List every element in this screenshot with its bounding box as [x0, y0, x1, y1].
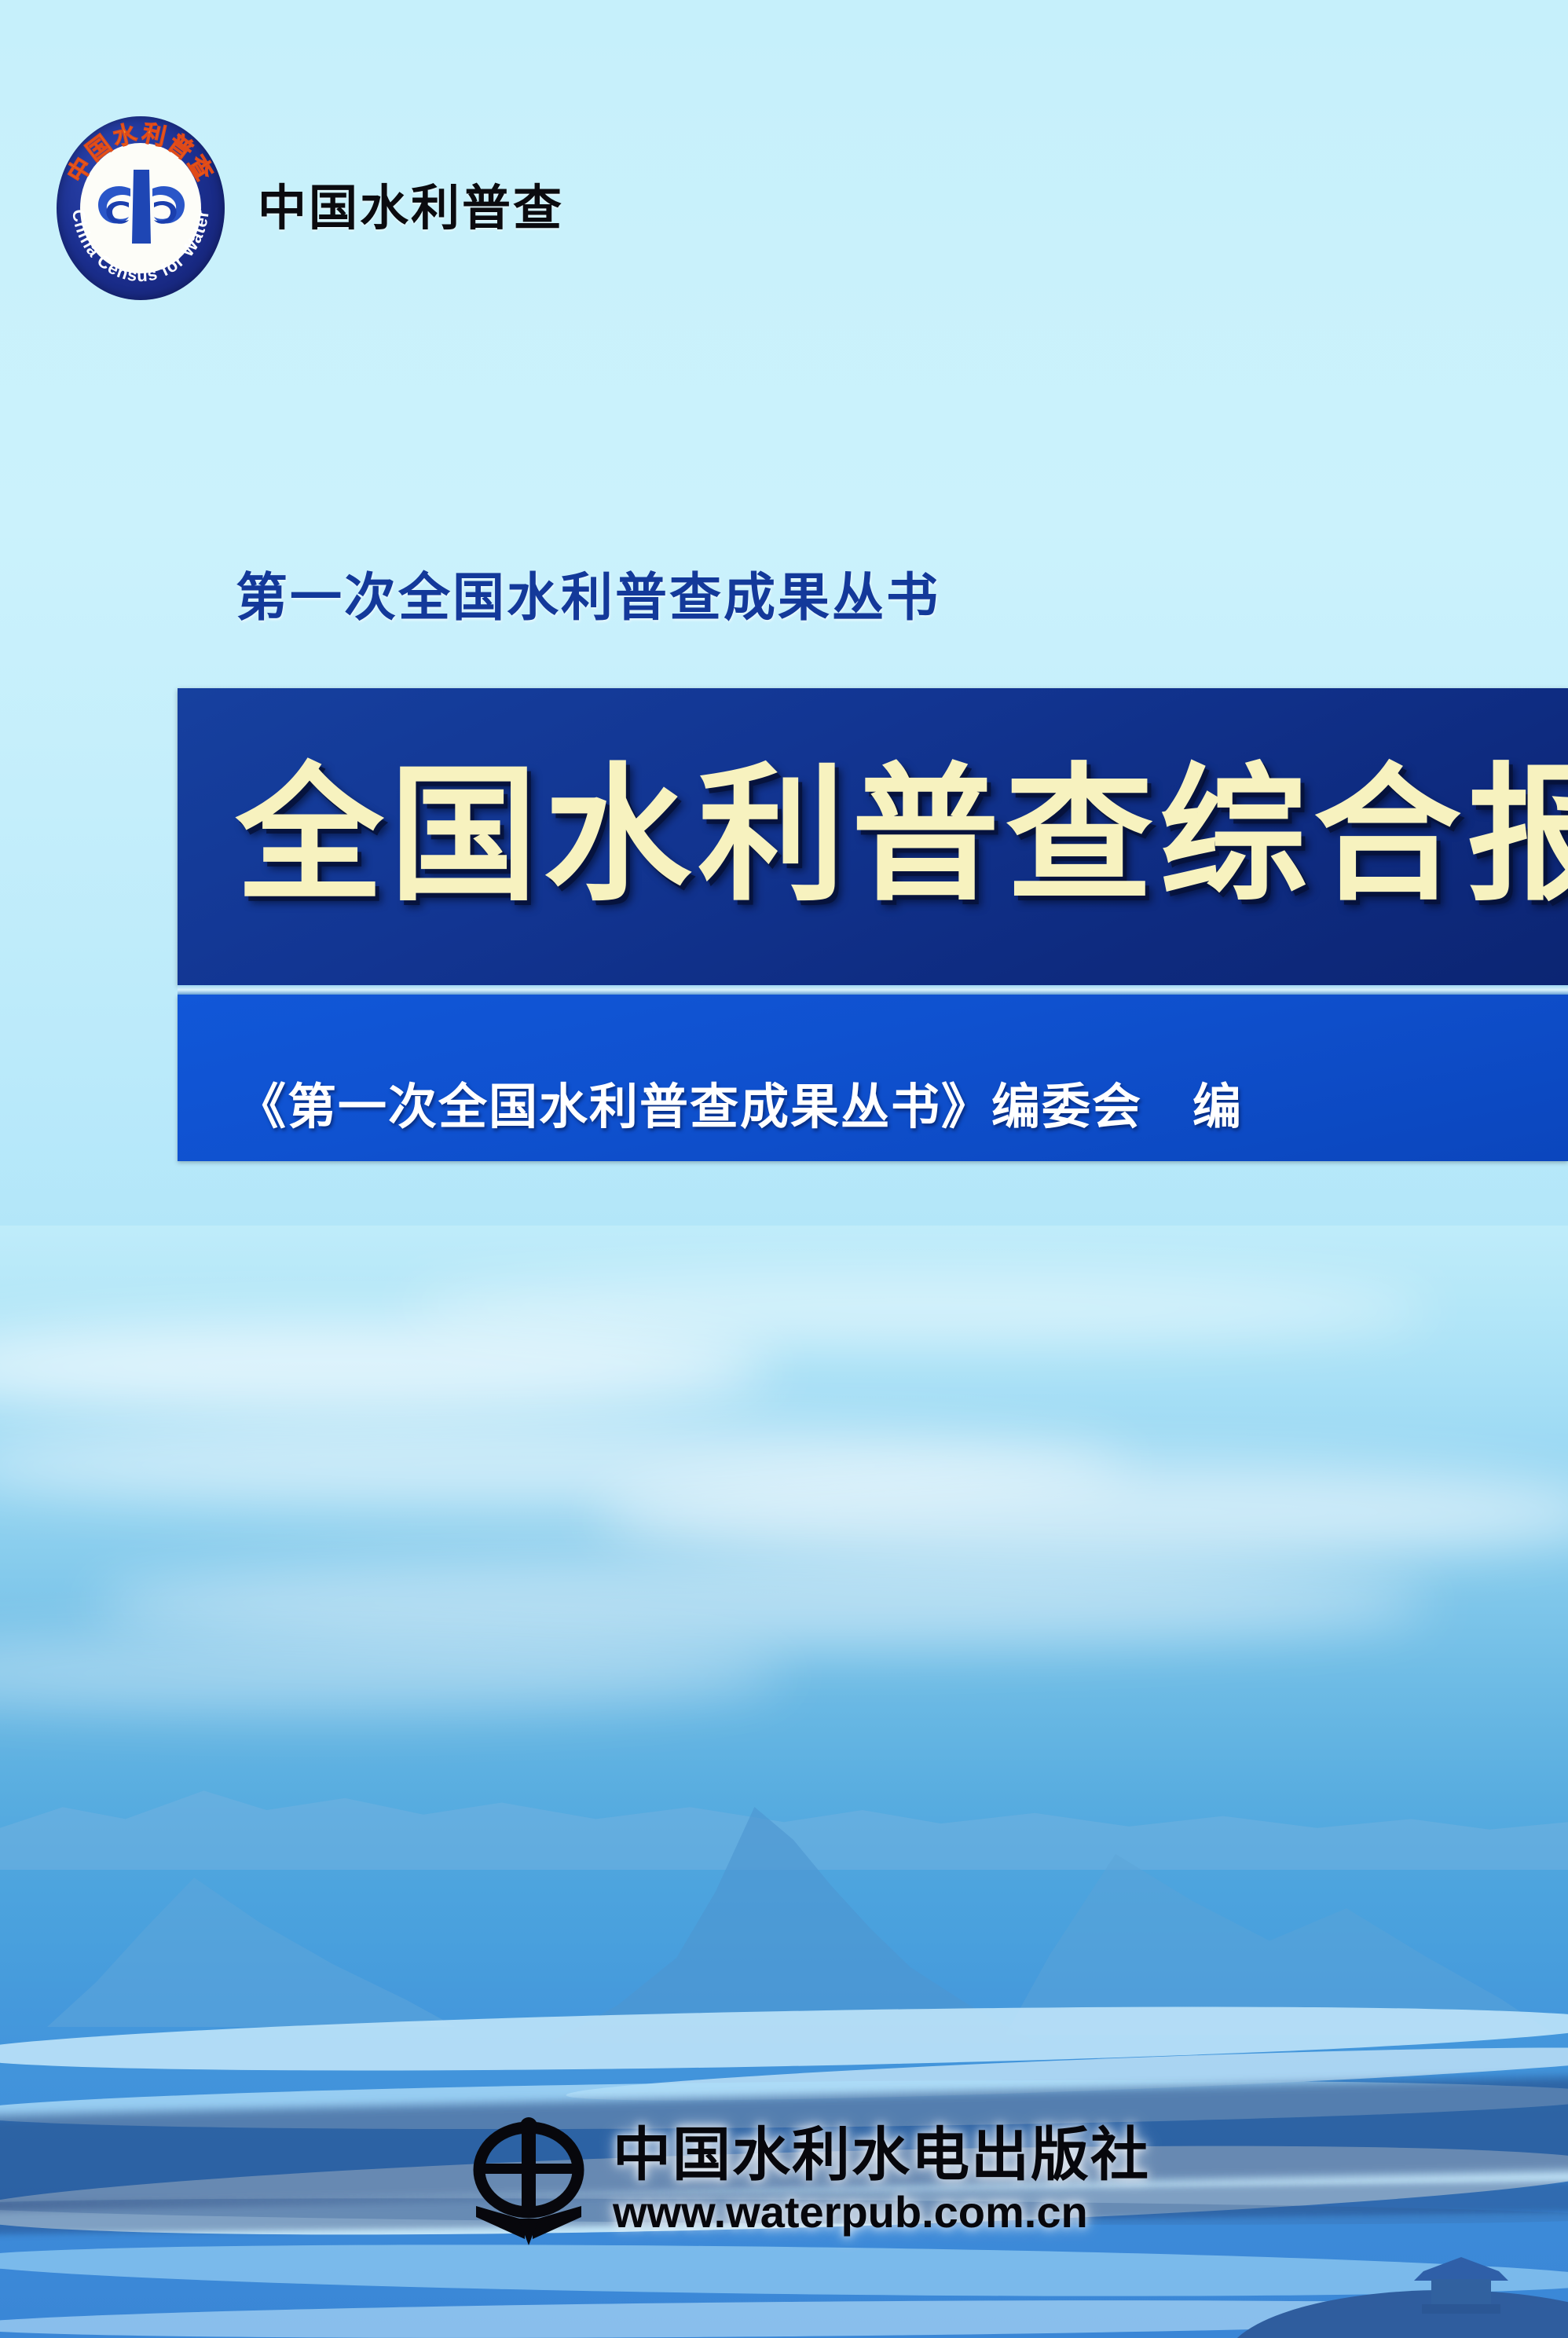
china-census-for-water-emblem-icon: 中国水利普查 China Census for Water [57, 116, 225, 300]
byline-banner: 《第一次全国水利普查成果丛书》编委会 编 [178, 995, 1568, 1161]
pavilion-silhouette [1414, 2257, 1508, 2314]
census-program-title: 中国水利普查 [258, 184, 564, 233]
title-banner: 全国水利普查综合报告 [178, 688, 1568, 985]
book-cover: 中国水利普查 China Census for Water [0, 0, 1568, 2338]
banner-divider [178, 985, 1568, 995]
publisher-name: 中国水利水电出版社 [613, 2126, 1150, 2184]
publisher-url: www.waterpub.com.cn [613, 2190, 1150, 2234]
cloud-band [408, 1273, 1430, 1345]
publisher-block: 中国水利水电出版社 www.waterpub.com.cn [470, 2105, 1145, 2255]
pavilion-body [1431, 2279, 1491, 2306]
series-label: 第一次全国水利普查成果丛书 [236, 572, 940, 624]
waterpub-press-logo-icon [470, 2113, 588, 2247]
publisher-text: 中国水利水电出版社 www.waterpub.com.cn [613, 2126, 1150, 2234]
pavilion-base [1422, 2304, 1500, 2314]
cover-header: 中国水利普查 China Census for Water [57, 116, 564, 300]
svg-text:China Census for Water: China Census for Water [68, 208, 213, 285]
editorial-committee-byline: 《第一次全国水利普查成果丛书》编委会 编 [237, 1083, 1243, 1131]
emblem-arc-bottom-text: China Census for Water [57, 116, 225, 300]
cloud-band [597, 1461, 1568, 1563]
mountain-peak-left [47, 1878, 456, 2027]
book-title: 全国水利普查综合报告 [236, 756, 1568, 915]
pavilion-roof [1414, 2257, 1508, 2281]
